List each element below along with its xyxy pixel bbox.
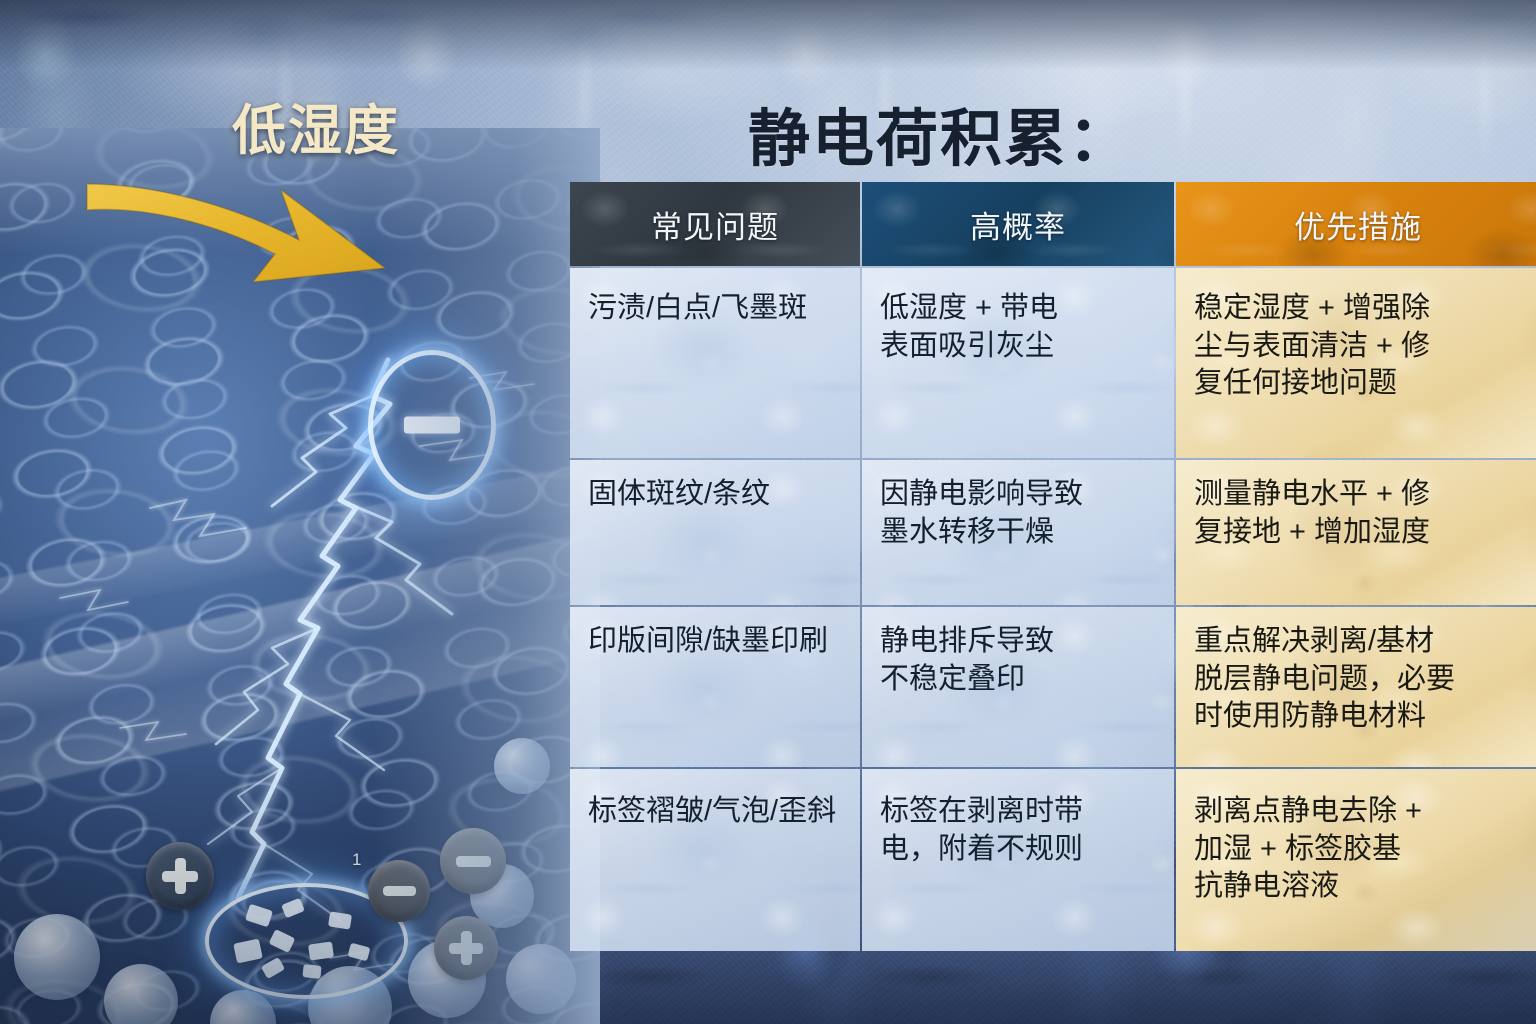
probability-text: 低湿度 + 带电 表面吸引灰尘 bbox=[862, 268, 1174, 365]
action-text: 测量静电水平 + 修 复接地 + 增加湿度 bbox=[1176, 460, 1536, 551]
issue-text: 标签褶皱/气泡/歪斜 bbox=[570, 769, 860, 831]
issue-text: 污渍/白点/飞墨斑 bbox=[570, 268, 860, 328]
action-text: 重点解决剥离/基材 脱层静电问题，必要 时使用防静电材料 bbox=[1176, 607, 1536, 736]
slide-canvas: 1 低湿度 静电荷积累： 常见 bbox=[0, 0, 1536, 1024]
probability-text: 静电排斥导致 不稳定叠印 bbox=[862, 607, 1174, 698]
table-row: 标签在剥离时带 电，附着不规则 bbox=[862, 769, 1174, 951]
table-row: 污渍/白点/飞墨斑 bbox=[570, 268, 860, 458]
issue-text: 固体斑纹/条纹 bbox=[570, 460, 860, 514]
table-row: 低湿度 + 带电 表面吸引灰尘 bbox=[862, 268, 1174, 458]
action-text: 剥离点静电去除 + 加湿 + 标签胶基 抗静电溶液 bbox=[1176, 769, 1536, 906]
table-row: 测量静电水平 + 修 复接地 + 增加湿度 bbox=[1176, 460, 1536, 605]
table-header-label: 常见问题 bbox=[570, 182, 860, 266]
table-header-cell-action: 优先措施 bbox=[1176, 182, 1536, 266]
table-row: 固体斑纹/条纹 bbox=[570, 460, 860, 605]
issues-table: 常见问题 高概率 优先措施 污渍/白点/飞墨斑 低湿度 + 带电 表面吸引灰尘 … bbox=[570, 182, 1536, 963]
table-header-label: 优先措施 bbox=[1176, 182, 1536, 266]
table-row: 标签褶皱/气泡/歪斜 bbox=[570, 769, 860, 951]
table-header-label: 高概率 bbox=[862, 182, 1174, 266]
issue-text: 印版间隙/缺墨印刷 bbox=[570, 607, 860, 661]
table-row: 因静电影响导致 墨水转移干燥 bbox=[862, 460, 1174, 605]
table-header-cell-probability: 高概率 bbox=[862, 182, 1174, 266]
table-row: 印版间隙/缺墨印刷 bbox=[570, 607, 860, 767]
action-text: 稳定湿度 + 增强除 尘与表面清洁 + 修 复任何接地问题 bbox=[1176, 268, 1536, 403]
table-row: 稳定湿度 + 增强除 尘与表面清洁 + 修 复任何接地问题 bbox=[1176, 268, 1536, 458]
probability-text: 标签在剥离时带 电，附着不规则 bbox=[862, 769, 1174, 868]
table-row: 重点解决剥离/基材 脱层静电问题，必要 时使用防静电材料 bbox=[1176, 607, 1536, 767]
table-header-cell-issue: 常见问题 bbox=[570, 182, 860, 266]
table-row: 剥离点静电去除 + 加湿 + 标签胶基 抗静电溶液 bbox=[1176, 769, 1536, 951]
probability-text: 因静电影响导致 墨水转移干燥 bbox=[862, 460, 1174, 551]
table-row: 静电排斥导致 不稳定叠印 bbox=[862, 607, 1174, 767]
